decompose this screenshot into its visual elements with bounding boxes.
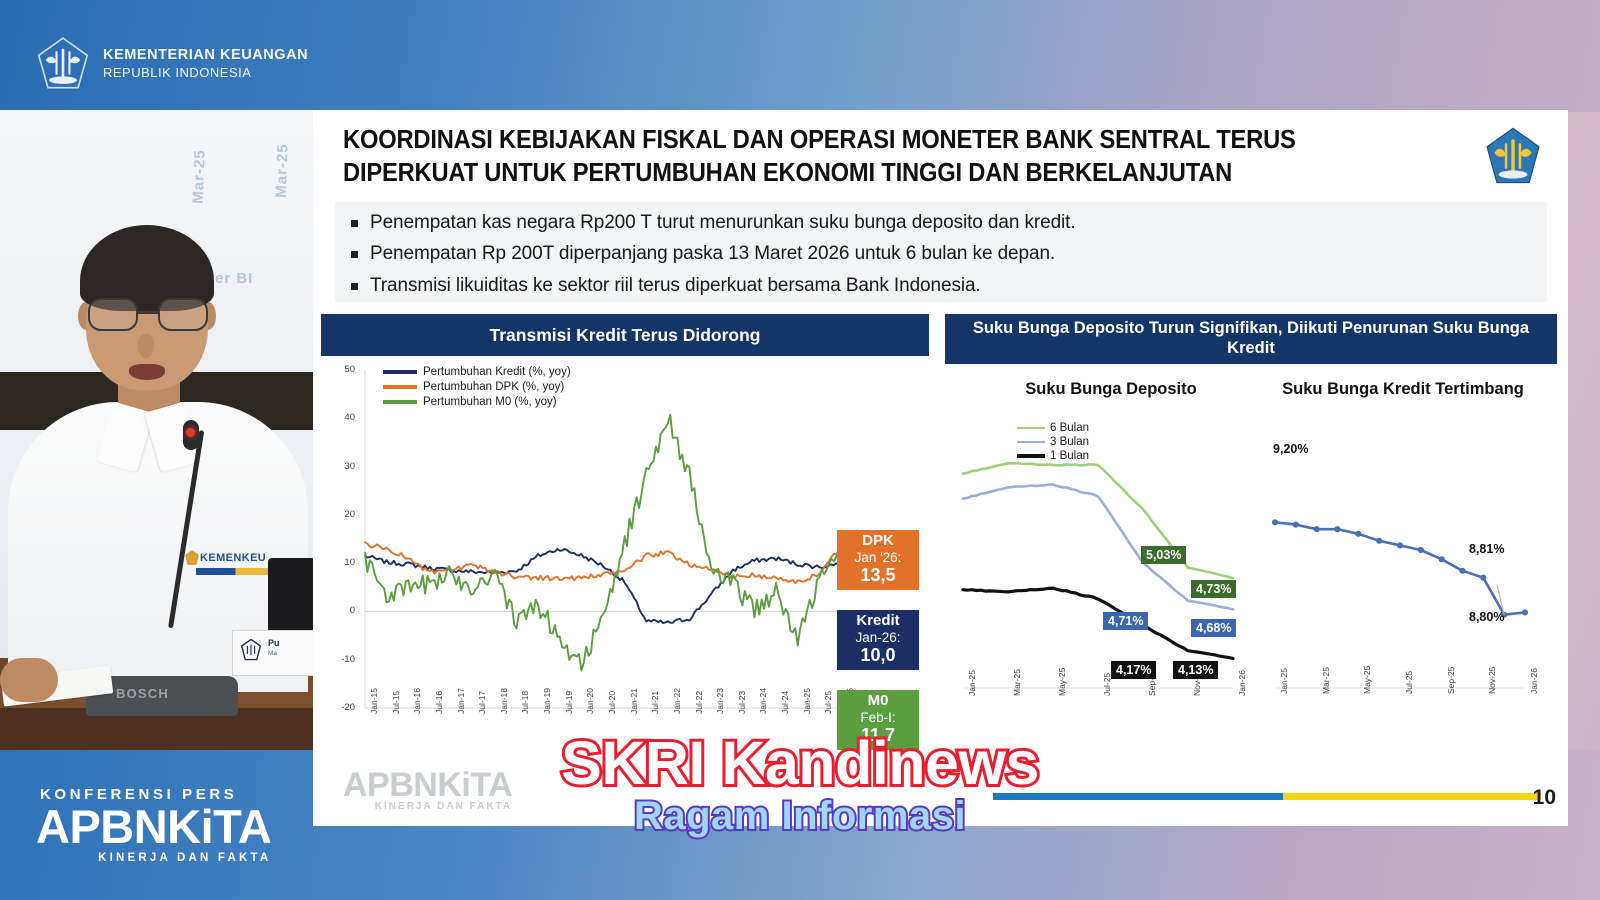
data-label-473: 4,73% <box>1191 580 1236 598</box>
wall-chart-text-3: er BI <box>215 270 253 287</box>
x-axis-tick: Jul-25 <box>1404 671 1414 694</box>
x-axis-tick: Jul-24 <box>780 691 790 714</box>
legend-item-m0: Pertumbuhan M0 (%, yoy) <box>383 396 571 408</box>
ministry-name: KEMENTERIAN KEUANGAN <box>103 46 308 65</box>
x-axis-tick: Jan-21 <box>629 688 639 714</box>
microphone-led-icon <box>186 428 195 437</box>
legend-label: 6 Bulan <box>1050 422 1089 434</box>
wall-chart-text-1: Mar-25 <box>190 149 209 204</box>
legend-label: Pertumbuhan Kredit (%, yoy) <box>423 366 571 378</box>
x-axis-tick: Jan-26 <box>1529 668 1539 694</box>
callout-m0: M0Feb-I:11,7 <box>837 690 919 750</box>
left-panel-header: Transmisi Kredit Terus Didorong <box>321 314 929 356</box>
callout-dpk: DPKJan '26:13,5 <box>837 530 919 590</box>
slide-kemenkeu-logo-icon <box>1484 126 1542 186</box>
callout-period: Jan-26: <box>837 630 919 645</box>
y-axis-tick: -20 <box>331 702 355 713</box>
x-axis-tick: Jul-22 <box>694 691 704 714</box>
legend-swatch-m0 <box>383 400 417 404</box>
x-axis-tick: Jan-26 <box>1237 670 1247 696</box>
chart-transmisi-kredit: Pertumbuhan Kredit (%, yoy) Pertumbuhan … <box>321 360 929 780</box>
ghost-wordmark-text: APBNKiTA <box>343 768 512 802</box>
apbnkita-tagline: KINERJA DAN FAKTA <box>36 852 271 864</box>
data-label-920: 9,20% <box>1273 442 1308 456</box>
legend-swatch-kredit <box>383 370 417 374</box>
x-axis-tick: Sep-25 <box>1446 667 1456 694</box>
x-axis-tick: Jan-25 <box>802 688 812 714</box>
list-item: Transmisi likuiditas ke sektor riil teru… <box>351 274 1531 298</box>
y-axis-tick: 20 <box>331 509 355 520</box>
footer-brand: KONFERENSI PERS APBNKiTA KINERJA DAN FAK… <box>36 786 271 864</box>
legend-item-1-bulan: 1 Bulan <box>1017 450 1089 462</box>
data-label-503: 5,03% <box>1141 546 1186 564</box>
bullet-text: Transmisi likuiditas ke sektor riil teru… <box>370 274 981 298</box>
bullet-text: Penempatan Rp 200T diperpanjang paska 13… <box>370 242 1055 266</box>
callout-value: 10,0 <box>837 645 919 665</box>
y-axis-tick: 50 <box>331 364 355 375</box>
data-label-881: 8,81% <box>1469 542 1504 556</box>
chart-suku-bunga: Suku Bunga Deposito Suku Bunga Kredit Te… <box>945 368 1557 780</box>
x-axis-tick: Mar-25 <box>1012 669 1022 696</box>
x-axis-tick: Jan-15 <box>369 688 379 714</box>
slide-title: KOORDINASI KEBIJAKAN FISKAL DAN OPERASI … <box>343 124 1357 189</box>
slide-ghost-wordmark: APBNKiTA KINERJA DAN FAKTA <box>343 768 512 812</box>
country-name: REPUBLIK INDONESIA <box>103 65 308 82</box>
legend-label: 3 Bulan <box>1050 436 1089 448</box>
x-axis-tick: Jul-18 <box>520 691 530 714</box>
x-axis-tick: Mar-25 <box>1321 667 1331 694</box>
x-axis-tick: Jul-19 <box>564 691 574 714</box>
callout-title: M0 <box>837 693 919 710</box>
x-axis-tick: Jul-25 <box>823 691 833 714</box>
shirt-badge-stripe <box>196 568 272 575</box>
y-axis-tick: 0 <box>331 605 355 616</box>
right-chart-legend: 6 Bulan 3 Bulan 1 Bulan <box>1017 422 1089 464</box>
data-label-880: 8,80% <box>1469 610 1504 624</box>
x-axis-tick: Jul-17 <box>477 691 487 714</box>
bullet-square-icon <box>351 283 358 290</box>
legend-label: Pertumbuhan DPK (%, yoy) <box>423 381 564 393</box>
legend-item-dpk: Pertumbuhan DPK (%, yoy) <box>383 381 571 393</box>
nameplate-logo-icon <box>240 638 262 661</box>
slide-page-number: 10 <box>1533 786 1556 810</box>
subtitle-suku-bunga-kredit: Suku Bunga Kredit Tertimbang <box>1263 380 1543 400</box>
legend-label: 1 Bulan <box>1050 450 1089 462</box>
bullet-list: Penempatan kas negara Rp200 T turut menu… <box>335 202 1547 302</box>
wall-chart-text-2: Mar-25 <box>273 143 292 198</box>
x-axis-tick: Jan-20 <box>585 688 595 714</box>
y-axis-tick: 30 <box>331 461 355 472</box>
slide-footer-bar-yellow <box>1283 793 1541 800</box>
callout-value: 11,7 <box>837 725 919 745</box>
x-axis-tick: Jul-21 <box>650 691 660 714</box>
x-axis-tick: Jan-16 <box>412 688 422 714</box>
speaker-hand <box>0 658 58 702</box>
shirt-badge-text: KEMENKEU <box>200 552 266 564</box>
x-axis-tick: Jul-23 <box>737 691 747 714</box>
broadcast-stage: KEMENTERIAN KEUANGAN REPUBLIK INDONESIA … <box>0 0 1600 900</box>
right-panel-header: Suku Bunga Deposito Turun Signifikan, Di… <box>945 314 1557 364</box>
left-chart-legend: Pertumbuhan Kredit (%, yoy) Pertumbuhan … <box>383 366 571 411</box>
header-logo: KEMENTERIAN KEUANGAN REPUBLIK INDONESIA <box>36 36 308 92</box>
data-label-417: 4,17% <box>1111 661 1156 679</box>
list-item: Penempatan Rp 200T diperpanjang paska 13… <box>351 242 1531 266</box>
y-axis-tick: 40 <box>331 412 355 423</box>
legend-swatch-dpk <box>383 385 417 389</box>
apbnkita-wordmark: APBNKiTA <box>36 803 271 851</box>
slide-footer-bar-blue <box>993 793 1283 800</box>
legend-label: Pertumbuhan M0 (%, yoy) <box>423 396 557 408</box>
x-axis-tick: Jan-18 <box>499 688 509 714</box>
data-label-471: 4,71% <box>1103 612 1148 630</box>
nameplate-line1: Pu <box>268 638 280 648</box>
legend-item-kredit: Pertumbuhan Kredit (%, yoy) <box>383 366 571 378</box>
callout-period: Jan '26: <box>837 550 919 565</box>
x-axis-tick: Jan-23 <box>715 688 725 714</box>
callout-value: 13,5 <box>837 565 919 585</box>
callout-title: Kredit <box>837 613 919 630</box>
legend-swatch-1-bulan <box>1017 454 1045 457</box>
callout-period: Feb-I: <box>837 710 919 725</box>
bullet-square-icon <box>351 220 358 227</box>
list-item: Penempatan kas negara Rp200 T turut menu… <box>351 211 1531 235</box>
bullet-square-icon <box>351 251 358 258</box>
y-axis-tick: -10 <box>331 654 355 665</box>
x-axis-tick: Jan-19 <box>542 688 552 714</box>
speaker-nose <box>138 334 154 358</box>
legend-swatch-3-bulan <box>1017 441 1045 444</box>
x-axis-tick: Nov-25 <box>1487 667 1497 694</box>
x-axis-tick: Jan-22 <box>672 688 682 714</box>
x-axis-tick: Jul-15 <box>391 691 401 714</box>
legend-item-3-bulan: 3 Bulan <box>1017 436 1089 448</box>
callout-title: DPK <box>837 533 919 550</box>
legend-item-6-bulan: 6 Bulan <box>1017 422 1089 434</box>
data-label-413: 4,13% <box>1173 661 1218 679</box>
x-axis-tick: Jan-25 <box>967 670 977 696</box>
x-axis-tick: Jan-25 <box>1279 668 1289 694</box>
microphone-brand: BOSCH <box>116 686 169 701</box>
x-axis-tick: Jan-17 <box>456 688 466 714</box>
legend-swatch-6-bulan <box>1017 427 1045 430</box>
header-logo-text: KEMENTERIAN KEUANGAN REPUBLIK INDONESIA <box>103 46 308 81</box>
x-axis-tick: May-25 <box>1057 668 1067 696</box>
x-axis-tick: May-25 <box>1362 666 1372 694</box>
x-axis-tick: Jan-24 <box>758 688 768 714</box>
subtitle-suku-bunga-deposito: Suku Bunga Deposito <box>961 380 1261 400</box>
y-axis-tick: 10 <box>331 557 355 568</box>
x-axis-tick: Jul-16 <box>434 691 444 714</box>
speaker-video-panel: Mar-25 Mar-25 er BI KEMENKEU Pu Ma <box>0 110 315 750</box>
speaker-mouth <box>129 364 165 380</box>
speaker-glasses-icon <box>86 298 210 332</box>
kemenkeu-pentagon-logo-icon <box>36 36 90 92</box>
callout-kredit: KreditJan-26:10,0 <box>837 610 919 670</box>
data-label-468: 4,68% <box>1191 619 1236 637</box>
nameplate-line2: Ma <box>268 650 277 657</box>
bullet-text: Penempatan kas negara Rp200 T turut menu… <box>370 211 1076 235</box>
shirt-emblem-icon <box>185 550 199 565</box>
x-axis-tick: Jul-20 <box>607 691 617 714</box>
presentation-slide: KOORDINASI KEBIJAKAN FISKAL DAN OPERASI … <box>313 110 1568 826</box>
